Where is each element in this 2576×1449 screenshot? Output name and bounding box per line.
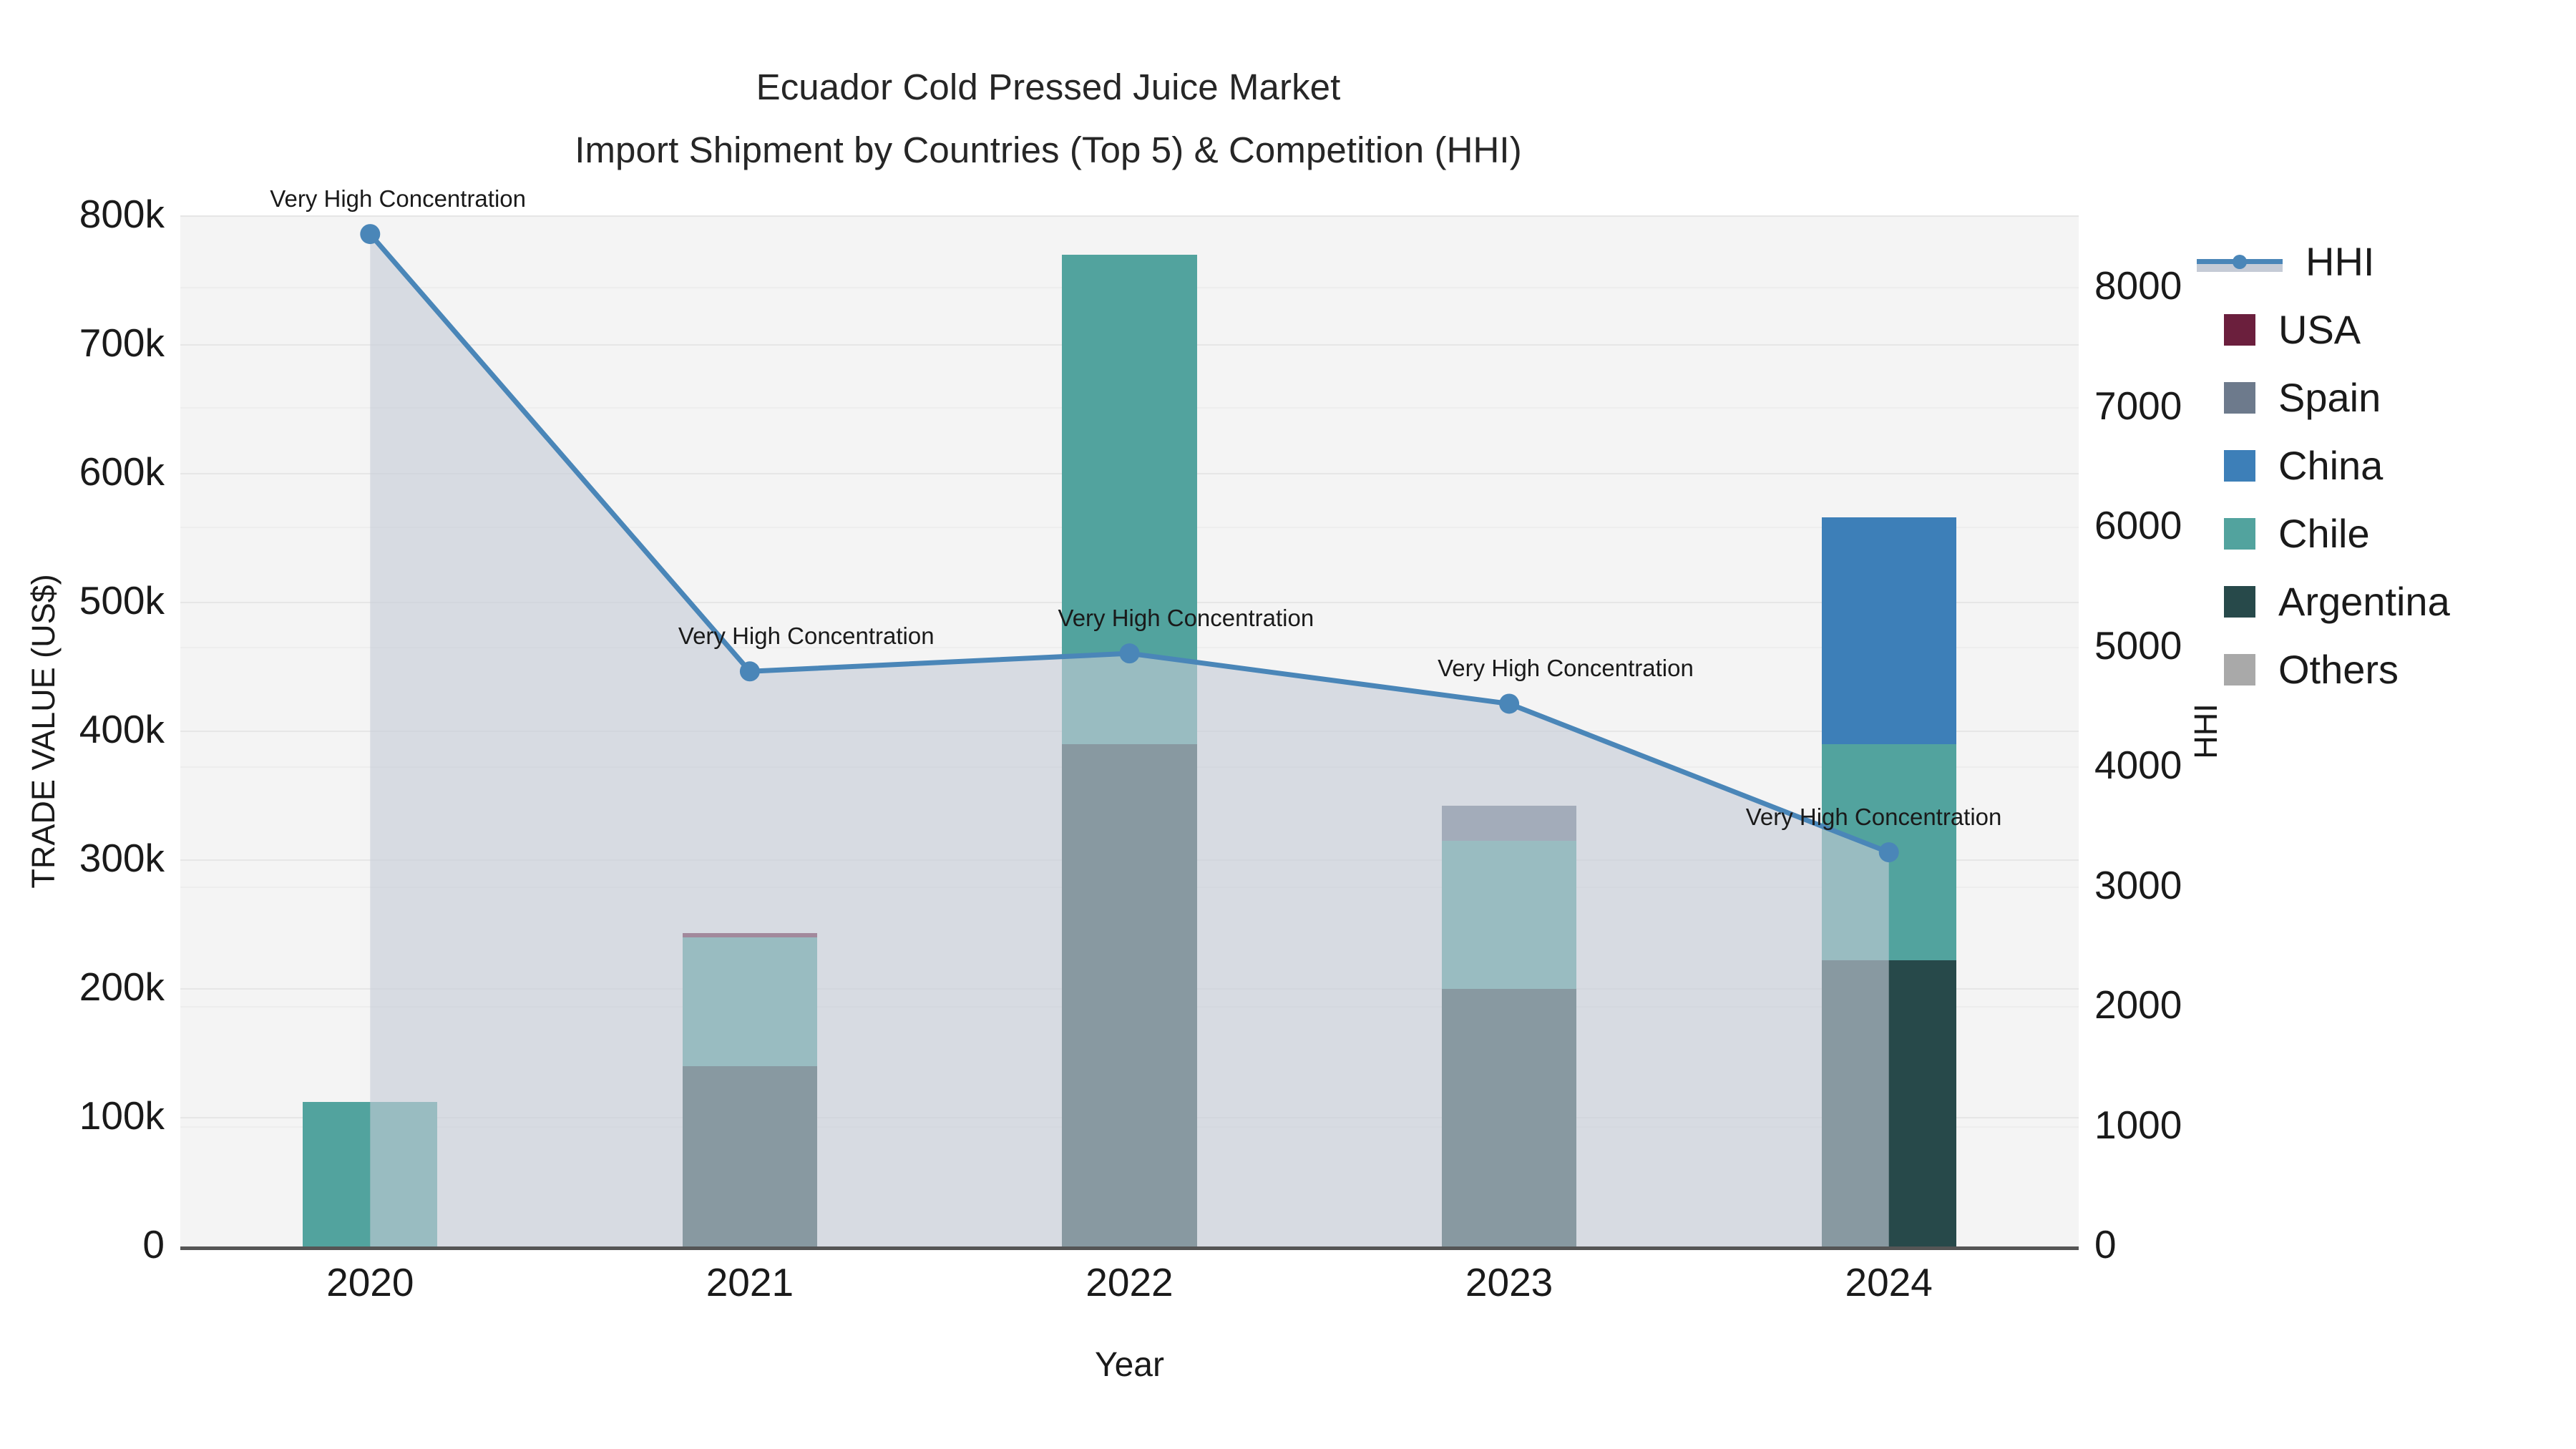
legend-item-chile[interactable]: Chile xyxy=(2224,499,2567,567)
chart-title: Ecuador Cold Pressed Juice Market xyxy=(0,56,2097,119)
legend-item-argentina[interactable]: Argentina xyxy=(2224,567,2567,635)
legend-label: Spain xyxy=(2278,378,2381,418)
y-tick-right-5000: 5000 xyxy=(2094,626,2182,665)
legend-label: Chile xyxy=(2278,514,2370,554)
legend-swatch-icon xyxy=(2224,450,2255,482)
x-tick-2021: 2021 xyxy=(560,1263,940,1302)
legend-swatch-icon xyxy=(2224,382,2255,414)
hhi-marker-2024[interactable] xyxy=(1879,842,1899,862)
x-tick-2020: 2020 xyxy=(180,1263,560,1302)
hhi-line-chart xyxy=(180,216,2079,1246)
y-tick-left-0: 0 xyxy=(142,1225,165,1264)
y-tick-left-400k: 400k xyxy=(79,710,165,749)
x-tick-2023: 2023 xyxy=(1319,1263,1699,1302)
y-tick-right-7000: 7000 xyxy=(2094,386,2182,426)
annotation-2020: Very High Concentration xyxy=(270,187,526,210)
y-tick-right-4000: 4000 xyxy=(2094,746,2182,785)
y-tick-left-300k: 300k xyxy=(79,839,165,878)
legend-label: Others xyxy=(2278,650,2399,690)
legend-label: Argentina xyxy=(2278,582,2450,622)
legend-swatch-icon xyxy=(2224,518,2255,550)
annotation-2022: Very High Concentration xyxy=(1058,606,1314,630)
y-tick-right-1000: 1000 xyxy=(2094,1106,2182,1145)
legend-item-spain[interactable]: Spain xyxy=(2224,364,2567,431)
hhi-marker-2022[interactable] xyxy=(1120,643,1140,663)
legend-item-china[interactable]: China xyxy=(2224,431,2567,499)
x-axis-label: Year xyxy=(180,1345,2079,1385)
hhi-marker-2021[interactable] xyxy=(740,661,760,681)
annotation-2024: Very High Concentration xyxy=(1746,805,2002,829)
hhi-marker-2020[interactable] xyxy=(360,224,380,244)
legend-label: HHI xyxy=(2306,242,2374,282)
legend-item-hhi[interactable]: HHI xyxy=(2224,228,2567,296)
y-tick-left-100k: 100k xyxy=(79,1096,165,1136)
hhi-marker-2023[interactable] xyxy=(1499,693,1519,713)
hhi-area-fill xyxy=(370,234,1888,1246)
legend: HHIUSASpainChinaChileArgentinaOthers xyxy=(2224,228,2567,703)
chart-title-block: Ecuador Cold Pressed Juice Market Import… xyxy=(0,56,2097,182)
plot-area: Very High ConcentrationVery High Concent… xyxy=(180,216,2079,1246)
y-tick-left-200k: 200k xyxy=(79,967,165,1007)
y-tick-right-2000: 2000 xyxy=(2094,985,2182,1025)
annotation-2023: Very High Concentration xyxy=(1438,656,1694,680)
y-tick-left-600k: 600k xyxy=(79,452,165,492)
y-tick-left-700k: 700k xyxy=(79,323,165,363)
x-tick-2022: 2022 xyxy=(940,1263,1319,1302)
x-tick-2024: 2024 xyxy=(1699,1263,2079,1302)
annotation-2021: Very High Concentration xyxy=(678,624,935,648)
y-axis-left-label: TRADE VALUE (US$) xyxy=(27,216,59,1246)
legend-label: China xyxy=(2278,446,2383,486)
y-tick-left-800k: 800k xyxy=(79,195,165,234)
y-tick-right-6000: 6000 xyxy=(2094,506,2182,545)
legend-item-usa[interactable]: USA xyxy=(2224,296,2567,364)
y-tick-right-8000: 8000 xyxy=(2094,266,2182,306)
y-axis-right-label: HHI xyxy=(2190,216,2222,1246)
legend-item-others[interactable]: Others xyxy=(2224,635,2567,703)
y-tick-left-500k: 500k xyxy=(79,581,165,620)
y-tick-right-3000: 3000 xyxy=(2094,866,2182,905)
chart-subtitle: Import Shipment by Countries (Top 5) & C… xyxy=(0,119,2097,182)
y-tick-right-0: 0 xyxy=(2094,1225,2117,1264)
legend-line-icon xyxy=(2197,246,2283,278)
legend-swatch-icon xyxy=(2224,654,2255,686)
x-axis-spine xyxy=(180,1246,2079,1250)
legend-swatch-icon xyxy=(2224,586,2255,618)
legend-label: USA xyxy=(2278,310,2361,350)
legend-swatch-icon xyxy=(2224,314,2255,346)
